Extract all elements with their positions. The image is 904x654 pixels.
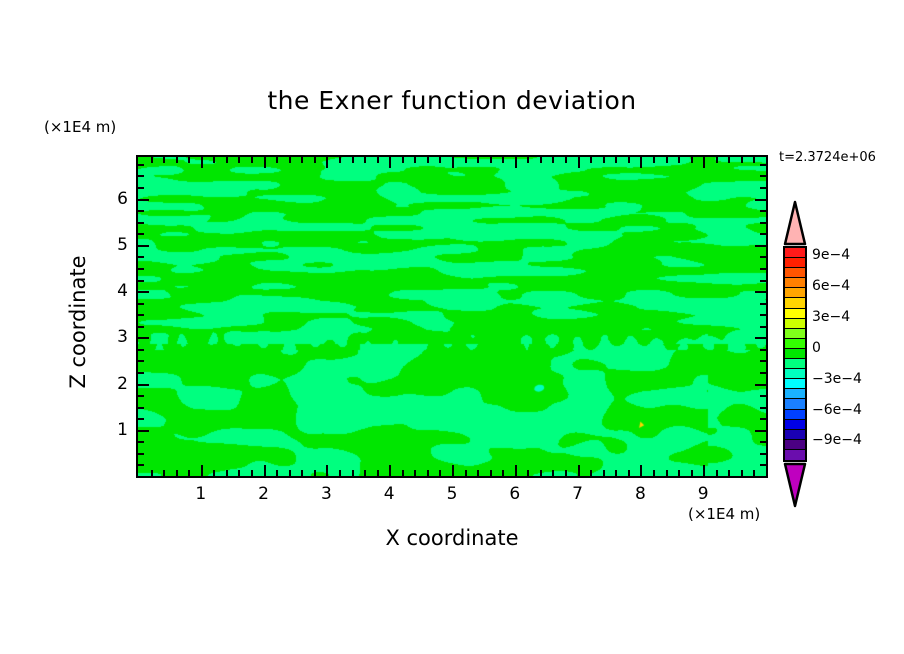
x-minor-tick — [603, 470, 605, 476]
x-minor-tick — [477, 157, 479, 163]
y-minor-tick — [138, 303, 144, 305]
colorbar-band — [785, 258, 805, 268]
x-major-tick — [640, 465, 642, 476]
y-major-tick — [138, 384, 149, 386]
y-minor-tick — [760, 222, 766, 224]
x-minor-tick — [163, 157, 165, 163]
x-major-tick — [452, 157, 454, 168]
x-minor-tick — [352, 157, 354, 163]
y-major-tick — [138, 291, 149, 293]
y-tick-label: 6 — [104, 189, 128, 209]
y-major-tick — [755, 384, 766, 386]
x-minor-tick — [251, 157, 253, 163]
y-minor-tick — [760, 372, 766, 374]
colorbar-tick-label: −6e−4 — [812, 402, 862, 418]
x-minor-tick — [540, 470, 542, 476]
y-axis-unit-label: (×1E4 m) — [44, 118, 116, 136]
timestamp-annotation: t=2.3724e+06 — [779, 150, 876, 165]
colorbar-band — [785, 319, 805, 329]
colorbar-band — [785, 399, 805, 409]
x-major-tick — [515, 157, 517, 168]
colorbar-tick-label: 9e−4 — [812, 247, 850, 263]
contour-field — [138, 157, 766, 476]
x-minor-tick — [314, 157, 316, 163]
x-minor-tick — [552, 157, 554, 163]
y-minor-tick — [760, 175, 766, 177]
x-minor-tick — [289, 470, 291, 476]
y-minor-tick — [138, 407, 144, 409]
x-tick-label: 4 — [374, 484, 404, 504]
x-minor-tick — [238, 470, 240, 476]
x-minor-tick — [615, 470, 617, 476]
y-minor-tick — [138, 360, 144, 362]
x-major-tick — [578, 465, 580, 476]
y-minor-tick — [760, 349, 766, 351]
x-minor-tick — [716, 470, 718, 476]
y-minor-tick — [760, 407, 766, 409]
contour-plot-area — [136, 155, 768, 478]
x-minor-tick — [226, 157, 228, 163]
x-minor-tick — [565, 157, 567, 163]
colorbar-band — [785, 410, 805, 420]
colorbar-band — [785, 349, 805, 359]
x-minor-tick — [716, 157, 718, 163]
x-major-tick — [452, 465, 454, 476]
x-minor-tick — [402, 157, 404, 163]
y-minor-tick — [138, 326, 144, 328]
y-minor-tick — [760, 441, 766, 443]
y-minor-tick — [760, 233, 766, 235]
x-minor-tick — [728, 157, 730, 163]
colorbar-band — [785, 389, 805, 399]
x-minor-tick — [439, 470, 441, 476]
colorbar-tick-label: −3e−4 — [812, 371, 862, 387]
y-minor-tick — [138, 233, 144, 235]
y-minor-tick — [760, 268, 766, 270]
y-minor-tick — [760, 360, 766, 362]
colorbar-band — [785, 369, 805, 379]
y-minor-tick — [138, 222, 144, 224]
y-minor-tick — [760, 256, 766, 258]
x-minor-tick — [465, 470, 467, 476]
x-major-tick — [389, 157, 391, 168]
x-minor-tick — [741, 470, 743, 476]
y-major-tick — [138, 430, 149, 432]
x-minor-tick — [314, 470, 316, 476]
x-minor-tick — [691, 157, 693, 163]
colorbar-band — [785, 329, 805, 339]
y-tick-label: 5 — [104, 235, 128, 255]
y-minor-tick — [138, 164, 144, 166]
x-minor-tick — [226, 470, 228, 476]
x-minor-tick — [728, 470, 730, 476]
y-tick-label: 4 — [104, 281, 128, 301]
y-minor-tick — [138, 453, 144, 455]
x-minor-tick — [565, 470, 567, 476]
x-major-tick — [264, 157, 266, 168]
x-major-tick — [578, 157, 580, 168]
y-minor-tick — [138, 175, 144, 177]
x-minor-tick — [213, 157, 215, 163]
page-title: the Exner function deviation — [0, 86, 904, 115]
y-minor-tick — [760, 464, 766, 466]
colorbar-band — [785, 268, 805, 278]
x-minor-tick — [414, 470, 416, 476]
x-minor-tick — [427, 470, 429, 476]
x-minor-tick — [502, 157, 504, 163]
x-minor-tick — [151, 157, 153, 163]
colorbar-band — [785, 278, 805, 288]
x-major-tick — [640, 157, 642, 168]
x-minor-tick — [364, 470, 366, 476]
x-minor-tick — [301, 157, 303, 163]
x-minor-tick — [666, 157, 668, 163]
x-minor-tick — [276, 470, 278, 476]
x-minor-tick — [615, 157, 617, 163]
colorbar-band — [785, 379, 805, 389]
x-major-tick — [264, 465, 266, 476]
colorbar-band — [785, 248, 805, 258]
x-minor-tick — [377, 470, 379, 476]
y-tick-label: 2 — [104, 374, 128, 394]
x-minor-tick — [176, 157, 178, 163]
colorbar[interactable] — [783, 246, 807, 462]
x-minor-tick — [339, 157, 341, 163]
x-minor-tick — [163, 470, 165, 476]
y-minor-tick — [760, 314, 766, 316]
y-minor-tick — [760, 187, 766, 189]
x-tick-label: 9 — [688, 484, 718, 504]
x-minor-tick — [628, 470, 630, 476]
x-minor-tick — [352, 470, 354, 476]
x-minor-tick — [251, 470, 253, 476]
colorbar-band — [785, 298, 805, 308]
colorbar-band — [785, 309, 805, 319]
x-tick-label: 5 — [437, 484, 467, 504]
x-minor-tick — [213, 470, 215, 476]
y-major-tick — [755, 291, 766, 293]
y-minor-tick — [138, 280, 144, 282]
x-minor-tick — [753, 157, 755, 163]
x-minor-tick — [502, 470, 504, 476]
x-minor-tick — [527, 157, 529, 163]
x-tick-label: 8 — [625, 484, 655, 504]
x-minor-tick — [465, 157, 467, 163]
colorbar-band — [785, 339, 805, 349]
y-minor-tick — [760, 303, 766, 305]
x-minor-tick — [377, 157, 379, 163]
x-tick-label: 6 — [500, 484, 530, 504]
x-minor-tick — [678, 157, 680, 163]
y-minor-tick — [138, 210, 144, 212]
colorbar-tick-label: 0 — [812, 340, 821, 356]
y-minor-tick — [760, 418, 766, 420]
x-tick-label: 1 — [186, 484, 216, 504]
x-major-tick — [326, 157, 328, 168]
x-minor-tick — [414, 157, 416, 163]
y-minor-tick — [760, 326, 766, 328]
x-minor-tick — [527, 470, 529, 476]
y-major-tick — [755, 199, 766, 201]
colorbar-band — [785, 420, 805, 430]
y-minor-tick — [138, 349, 144, 351]
x-minor-tick — [427, 157, 429, 163]
colorbar-band — [785, 440, 805, 450]
y-minor-tick — [760, 395, 766, 397]
colorbar-tick-label: −9e−4 — [812, 432, 862, 448]
x-minor-tick — [289, 157, 291, 163]
x-axis-title: X coordinate — [0, 526, 904, 550]
y-minor-tick — [760, 164, 766, 166]
colorbar-under-arrow — [783, 462, 807, 508]
x-minor-tick — [603, 157, 605, 163]
x-minor-tick — [151, 470, 153, 476]
y-minor-tick — [138, 372, 144, 374]
y-major-tick — [138, 245, 149, 247]
x-minor-tick — [666, 470, 668, 476]
x-minor-tick — [653, 157, 655, 163]
x-minor-tick — [477, 470, 479, 476]
y-minor-tick — [760, 210, 766, 212]
y-major-tick — [138, 337, 149, 339]
x-minor-tick — [238, 157, 240, 163]
x-minor-tick — [276, 157, 278, 163]
x-major-tick — [515, 465, 517, 476]
colorbar-band — [785, 359, 805, 369]
x-tick-label: 3 — [311, 484, 341, 504]
x-minor-tick — [678, 470, 680, 476]
x-major-tick — [201, 465, 203, 476]
x-major-tick — [326, 465, 328, 476]
x-major-tick — [703, 157, 705, 168]
y-minor-tick — [138, 187, 144, 189]
x-minor-tick — [590, 470, 592, 476]
x-minor-tick — [402, 470, 404, 476]
y-minor-tick — [760, 453, 766, 455]
x-minor-tick — [628, 157, 630, 163]
colorbar-tick-label: 3e−4 — [812, 309, 850, 325]
x-tick-label: 7 — [563, 484, 593, 504]
x-minor-tick — [176, 470, 178, 476]
x-minor-tick — [439, 157, 441, 163]
y-tick-label: 1 — [104, 420, 128, 440]
x-minor-tick — [691, 470, 693, 476]
y-major-tick — [755, 337, 766, 339]
y-minor-tick — [138, 256, 144, 258]
x-minor-tick — [590, 157, 592, 163]
x-minor-tick — [364, 157, 366, 163]
x-major-tick — [201, 157, 203, 168]
x-minor-tick — [188, 470, 190, 476]
x-minor-tick — [753, 470, 755, 476]
figure-canvas: the Exner function deviation (×1E4 m) (×… — [0, 0, 904, 654]
y-minor-tick — [138, 418, 144, 420]
y-major-tick — [755, 245, 766, 247]
x-minor-tick — [490, 470, 492, 476]
colorbar-band — [785, 450, 805, 460]
x-minor-tick — [301, 470, 303, 476]
x-axis-unit-label: (×1E4 m) — [688, 505, 760, 523]
colorbar-band — [785, 430, 805, 440]
y-minor-tick — [760, 280, 766, 282]
x-minor-tick — [653, 470, 655, 476]
y-axis-title: Z coordinate — [66, 222, 90, 422]
x-minor-tick — [552, 470, 554, 476]
y-minor-tick — [138, 268, 144, 270]
x-tick-label: 2 — [249, 484, 279, 504]
y-minor-tick — [138, 464, 144, 466]
x-minor-tick — [339, 470, 341, 476]
y-minor-tick — [138, 441, 144, 443]
colorbar-tick-label: 6e−4 — [812, 278, 850, 294]
x-minor-tick — [540, 157, 542, 163]
x-minor-tick — [741, 157, 743, 163]
y-minor-tick — [138, 314, 144, 316]
colorbar-band — [785, 288, 805, 298]
y-major-tick — [755, 430, 766, 432]
y-tick-label: 3 — [104, 327, 128, 347]
x-minor-tick — [188, 157, 190, 163]
x-major-tick — [703, 465, 705, 476]
colorbar-over-arrow — [783, 200, 807, 246]
x-major-tick — [389, 465, 391, 476]
y-minor-tick — [138, 395, 144, 397]
x-minor-tick — [490, 157, 492, 163]
y-major-tick — [138, 199, 149, 201]
